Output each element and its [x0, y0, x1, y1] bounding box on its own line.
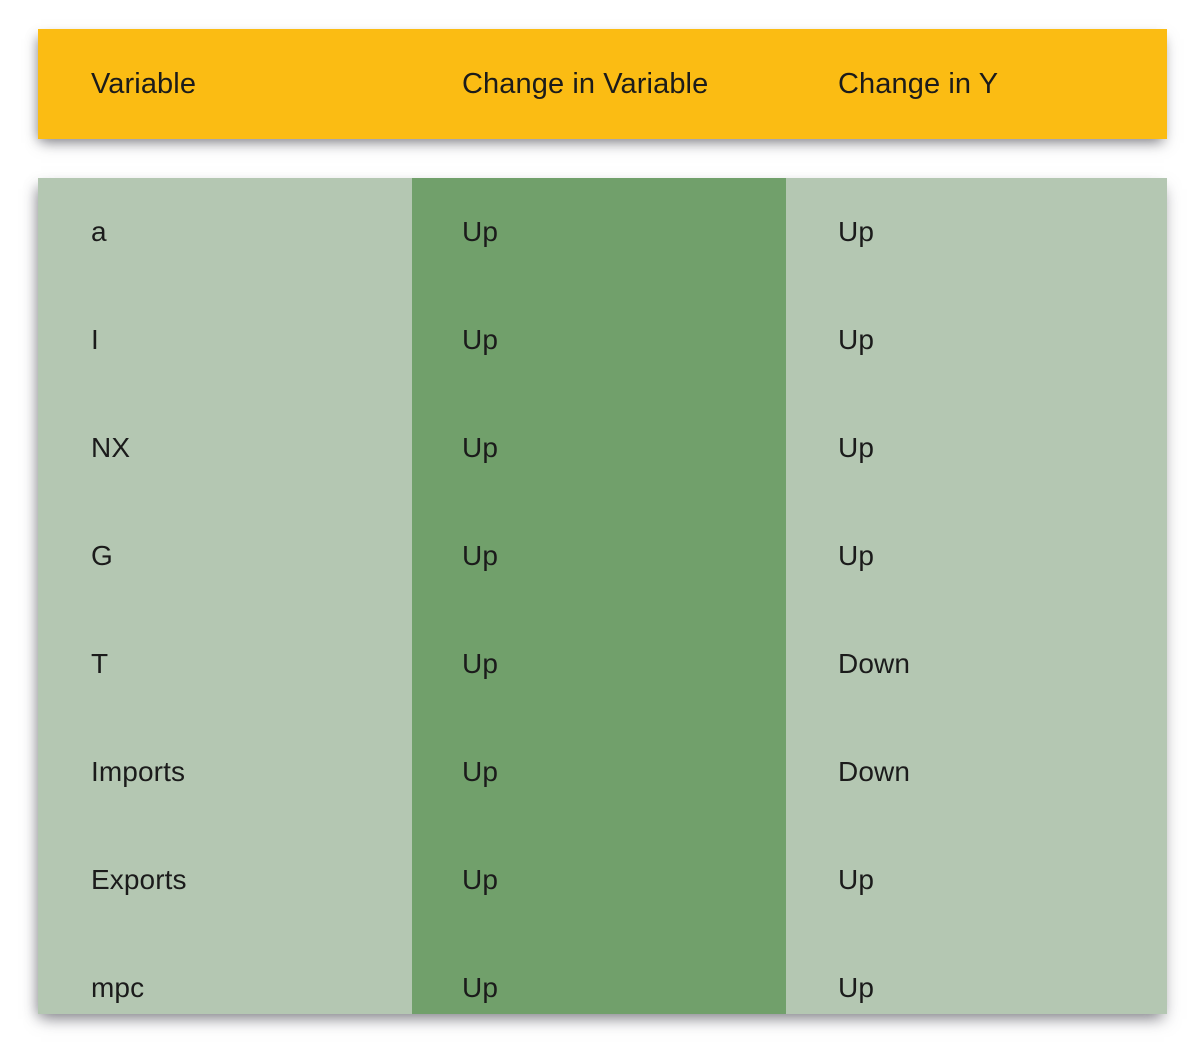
cell-variable: a: [91, 178, 107, 286]
cell-change-in-variable: Up: [462, 286, 498, 394]
column-header-change-in-y: Change in Y: [838, 29, 998, 139]
table-row: TUpDown: [38, 610, 1167, 718]
cell-change-in-y: Up: [838, 826, 874, 934]
cell-change-in-y: Down: [838, 610, 910, 718]
cell-change-in-variable: Up: [462, 178, 498, 286]
column-header-variable: Variable: [91, 29, 196, 139]
table-row: ExportsUpUp: [38, 826, 1167, 934]
table-row: IUpUp: [38, 286, 1167, 394]
cell-change-in-variable: Up: [462, 610, 498, 718]
table-rows: aUpUpIUpUpNXUpUpGUpUpTUpDownImportsUpDow…: [38, 178, 1167, 1014]
cell-variable: T: [91, 610, 108, 718]
cell-change-in-variable: Up: [462, 718, 498, 826]
cell-variable: NX: [91, 394, 130, 502]
table-row: ImportsUpDown: [38, 718, 1167, 826]
cell-change-in-variable: Up: [462, 934, 498, 1014]
cell-variable: G: [91, 502, 113, 610]
cell-change-in-y: Up: [838, 286, 874, 394]
cell-change-in-variable: Up: [462, 394, 498, 502]
table-row: mpcUpUp: [38, 934, 1167, 1014]
cell-change-in-variable: Up: [462, 502, 498, 610]
cell-change-in-y: Up: [838, 502, 874, 610]
cell-variable: Exports: [91, 826, 187, 934]
cell-change-in-variable: Up: [462, 826, 498, 934]
cell-variable: I: [91, 286, 99, 394]
column-header-change-in-variable: Change in Variable: [462, 29, 708, 139]
table-header-band: Variable Change in Variable Change in Y: [38, 29, 1167, 139]
variable-change-table: Variable Change in Variable Change in Y …: [0, 0, 1201, 1054]
table-row: NXUpUp: [38, 394, 1167, 502]
cell-variable: mpc: [91, 934, 144, 1014]
cell-variable: Imports: [91, 718, 185, 826]
cell-change-in-y: Up: [838, 178, 874, 286]
table-row: aUpUp: [38, 178, 1167, 286]
cell-change-in-y: Up: [838, 394, 874, 502]
table-body-block: aUpUpIUpUpNXUpUpGUpUpTUpDownImportsUpDow…: [38, 178, 1167, 1014]
cell-change-in-y: Up: [838, 934, 874, 1014]
cell-change-in-y: Down: [838, 718, 910, 826]
table-row: GUpUp: [38, 502, 1167, 610]
